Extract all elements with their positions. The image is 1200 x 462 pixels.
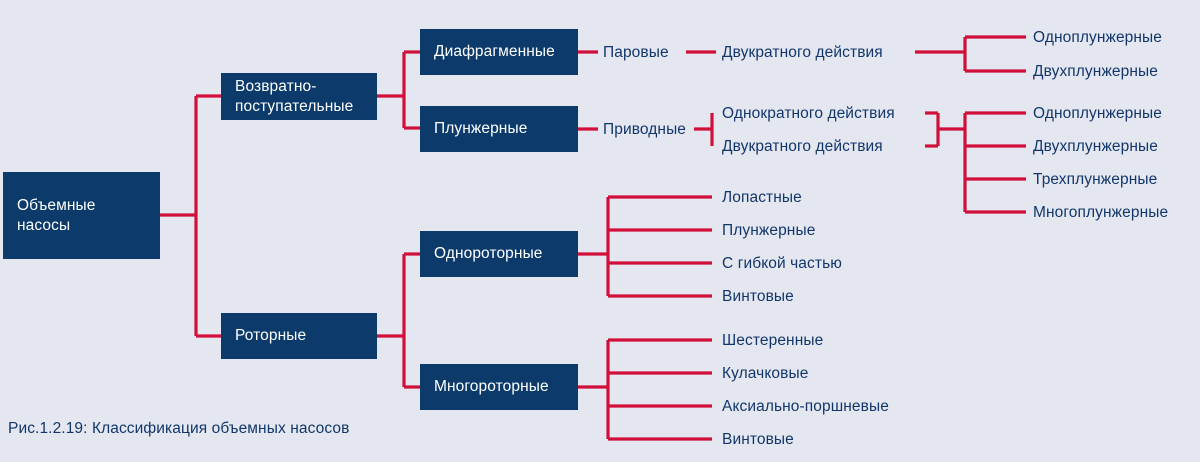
node-root-label: Объемные насосы — [17, 196, 146, 236]
label-single-acting-driven: Однократного действия — [722, 106, 895, 122]
node-diaphragm[interactable]: Диафрагменные — [420, 29, 578, 75]
node-single-rotor-label: Однороторные — [434, 244, 543, 264]
label-driven: Приводные — [603, 122, 686, 138]
label-double-acting-steam: Двукратного действия — [722, 45, 883, 61]
label-steam-single-plunger: Одноплунжерные — [1033, 30, 1162, 46]
node-diaphragm-label: Диафрагменные — [434, 42, 555, 62]
label-vane: Лопастные — [722, 190, 802, 206]
label-screw-multi: Винтовые — [722, 432, 794, 448]
label-gear: Шестеренные — [722, 333, 823, 349]
label-driven-multi-plunger: Многоплунжерные — [1033, 205, 1168, 221]
node-rotary[interactable]: Роторные — [221, 313, 377, 359]
node-plunger[interactable]: Плунжерные — [420, 106, 578, 152]
figure-caption: Рис.1.2.19: Классификация объемных насос… — [8, 420, 349, 438]
label-flexible-member: С гибкой частью — [722, 256, 842, 272]
node-rotary-label: Роторные — [235, 326, 306, 346]
label-driven-single-plunger: Одноплунжерные — [1033, 106, 1162, 122]
node-plunger-label: Плунжерные — [434, 119, 527, 139]
node-reciprocating-label: Возвратно-поступательные — [235, 77, 363, 117]
label-driven-double-plunger: Двухплунжерные — [1033, 139, 1158, 155]
label-plunger-rotary: Плунжерные — [722, 223, 815, 239]
node-multi-rotor[interactable]: Многороторные — [420, 364, 578, 410]
node-root[interactable]: Объемные насосы — [3, 172, 160, 259]
label-steam-double-plunger: Двухплунжерные — [1033, 64, 1158, 80]
label-axial-piston: Аксиально-поршневые — [722, 399, 889, 415]
label-screw-single: Винтовые — [722, 289, 794, 305]
connector-layer — [0, 0, 1200, 462]
node-multi-rotor-label: Многороторные — [434, 377, 549, 397]
label-double-acting-driven: Двукратного действия — [722, 139, 883, 155]
label-steam: Паровые — [603, 45, 669, 61]
pump-classification-diagram: Объемные насосы Возвратно-поступательные… — [0, 0, 1200, 462]
label-cam: Кулачковые — [722, 366, 808, 382]
node-reciprocating[interactable]: Возвратно-поступательные — [221, 73, 377, 120]
label-driven-triple-plunger: Трехплунжерные — [1033, 172, 1157, 188]
node-single-rotor[interactable]: Однороторные — [420, 231, 578, 277]
